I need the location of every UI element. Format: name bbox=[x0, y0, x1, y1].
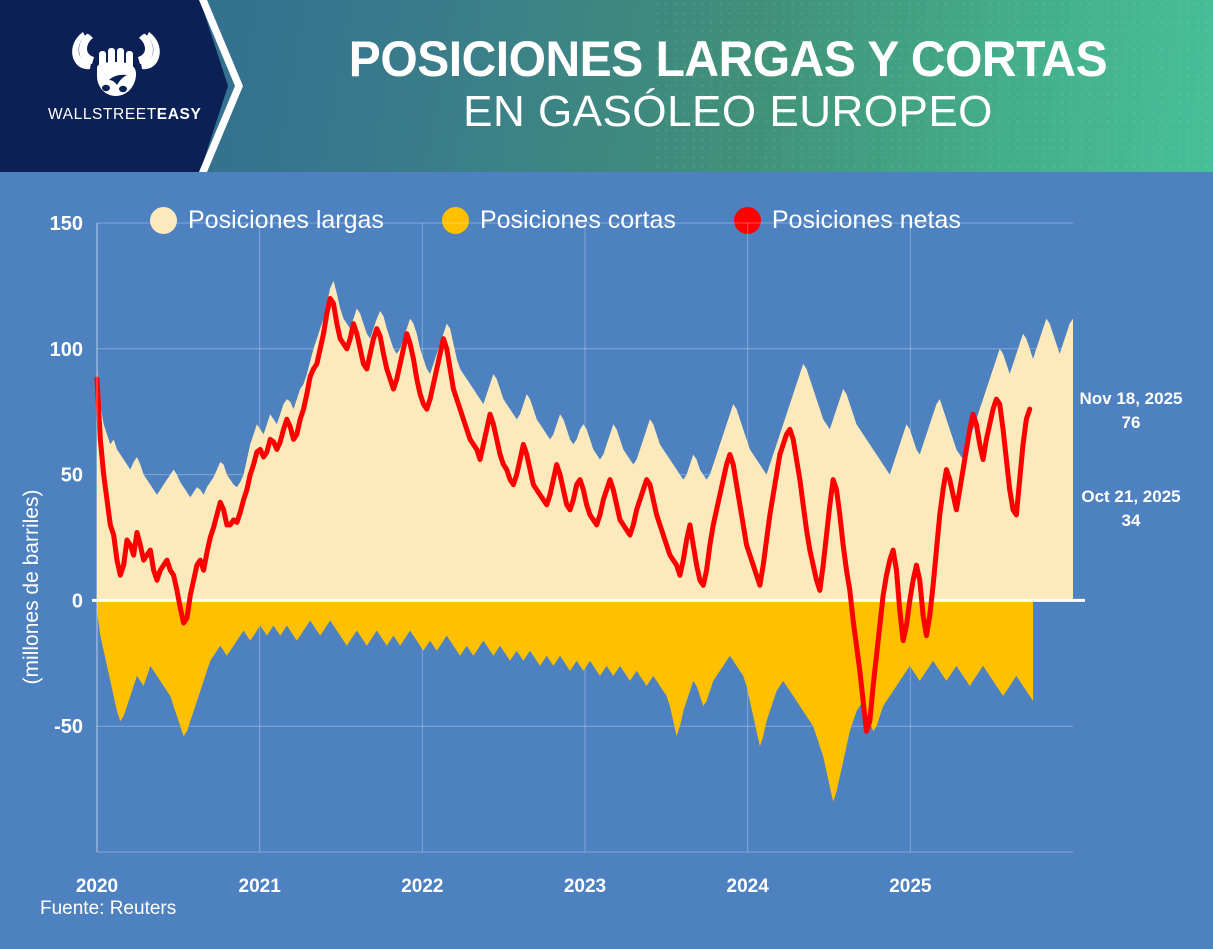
page-header: WALLSTREETEASY POSICIONES LARGAS Y CORTA… bbox=[0, 0, 1213, 172]
chart-area: 150100500-50 202020212022202320242025 (m… bbox=[0, 172, 1213, 949]
brand-wordmark-part1: WALLSTREET bbox=[48, 106, 157, 123]
y-tick-label: -50 bbox=[54, 716, 83, 738]
x-tick-label: 2025 bbox=[889, 876, 932, 897]
annotation-prior: Oct 21, 2025 34 bbox=[1081, 487, 1180, 530]
positions-area-chart: 150100500-50 202020212022202320242025 (m… bbox=[0, 172, 1213, 949]
annotation-prior-value: 34 bbox=[1122, 511, 1141, 530]
x-tick-label: 2020 bbox=[76, 876, 118, 897]
series-posiciones-cortas bbox=[97, 600, 1033, 801]
y-tick-label: 100 bbox=[50, 339, 83, 361]
source-note: Fuente: Reuters bbox=[40, 898, 176, 919]
x-tick-labels: 202020212022202320242025 bbox=[76, 876, 932, 897]
x-tick-label: 2024 bbox=[727, 876, 770, 897]
y-tick-label: 0 bbox=[72, 590, 83, 612]
y-axis-title: (millones de barriles) bbox=[20, 490, 43, 685]
x-tick-label: 2021 bbox=[239, 876, 282, 897]
bull-fist-logo-icon bbox=[57, 30, 175, 102]
annotation-prior-date: Oct 21, 2025 bbox=[1081, 487, 1180, 506]
title-block: POSICIONES LARGAS Y CORTAS EN GASÓLEO EU… bbox=[243, 0, 1213, 172]
annotation-latest-value: 76 bbox=[1122, 413, 1141, 432]
y-tick-label: 150 bbox=[50, 213, 83, 235]
brand-wordmark: WALLSTREETEASY bbox=[48, 106, 184, 124]
brand-logo: WALLSTREETEASY bbox=[48, 30, 184, 140]
annotation-latest-date: Nov 18, 2025 bbox=[1079, 389, 1182, 408]
page-subtitle: EN GASÓLEO EUROPEO bbox=[463, 87, 993, 138]
brand-wordmark-part2: EASY bbox=[157, 106, 202, 123]
page-title: POSICIONES LARGAS Y CORTAS bbox=[349, 34, 1107, 85]
annotation-latest: Nov 18, 2025 76 bbox=[1079, 389, 1182, 432]
y-tick-labels: 150100500-50 bbox=[50, 213, 83, 738]
x-tick-label: 2022 bbox=[401, 876, 443, 897]
x-tick-label: 2023 bbox=[564, 876, 606, 897]
y-tick-label: 50 bbox=[61, 465, 83, 487]
